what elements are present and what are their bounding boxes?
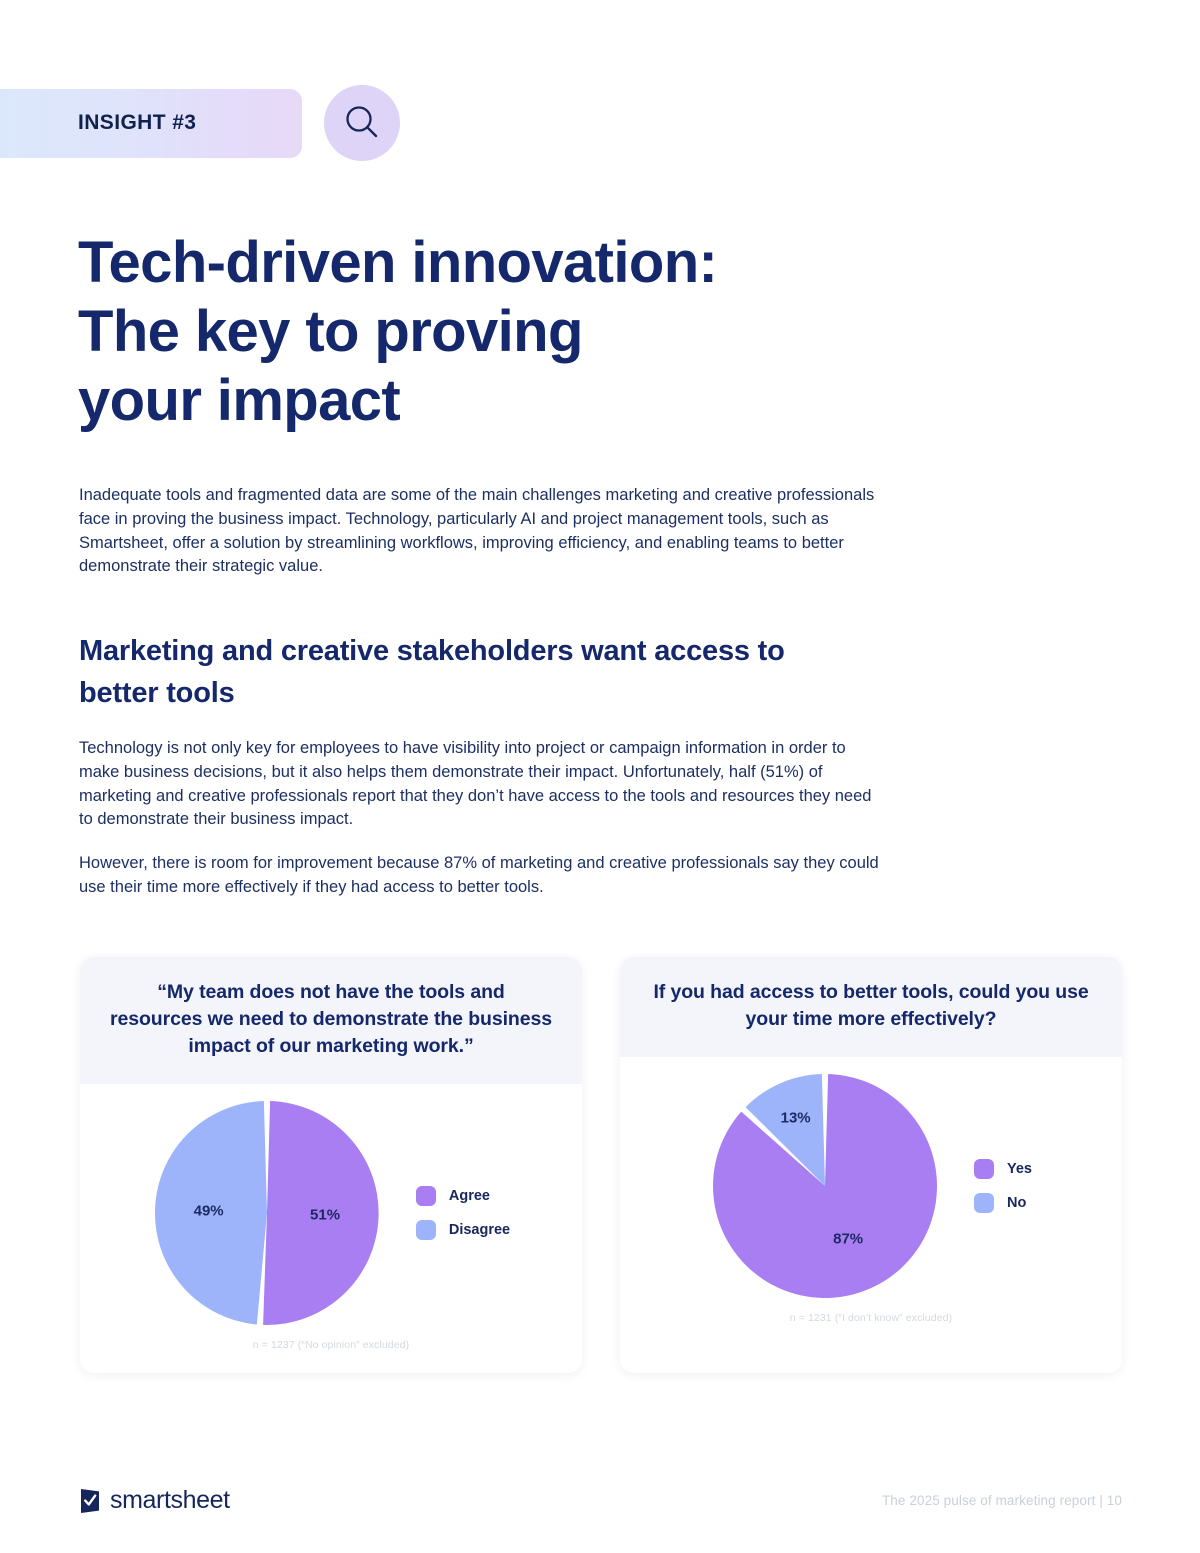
legend-label-agree: Agree [449,1188,490,1204]
chart-card-agree-disagree: “My team does not have the tools and res… [80,957,582,1373]
pie-chart-2: 87% 13% Yes No [620,1071,1122,1301]
chart-legend: Agree Disagree [416,1186,510,1240]
insight-badge-label: INSIGHT #3 [78,111,196,135]
chart-title: “My team does not have the tools and res… [110,979,552,1060]
pie-slice-label-yes: 87% [833,1231,863,1248]
legend-label-disagree: Disagree [449,1222,510,1238]
insight-badge: INSIGHT #3 [0,89,302,158]
legend-item-no[interactable]: No [974,1193,1032,1213]
chart-card-body: 87% 13% Yes No n = 1231 (“I [620,1057,1122,1346]
footer-meta: The 2025 pulse of marketing report | 10 [882,1493,1122,1508]
pie-slice-label-no: 13% [781,1110,811,1127]
legend-item-agree[interactable]: Agree [416,1186,510,1206]
legend-label-no: No [1007,1195,1026,1211]
pie-slice-label-disagree: 49% [194,1203,224,1220]
chart-card-body: 51% 49% Agree Disagree n = 1 [80,1084,582,1373]
smartsheet-logo: smartsheet [79,1486,230,1515]
chart-footnote: n = 1231 (“I don’t know” excluded) [620,1312,1122,1324]
pie-graphic: 87% 13% [710,1071,940,1301]
pie-slice-label-agree: 51% [310,1206,340,1223]
insight-badge-row: INSIGHT #3 [0,85,400,161]
chart-card-header: “My team does not have the tools and res… [80,957,582,1084]
legend-swatch-no [974,1193,994,1213]
smartsheet-check-icon [79,1488,101,1514]
search-icon [340,101,384,145]
page-footer: smartsheet The 2025 pulse of marketing r… [79,1486,1122,1515]
chart-legend: Yes No [974,1159,1032,1213]
chart-footnote: n = 1237 (“No opinion” excluded) [80,1339,582,1351]
chart-card-group: “My team does not have the tools and res… [80,957,1122,1373]
legend-swatch-agree [416,1186,436,1206]
legend-swatch-disagree [416,1220,436,1240]
section-subheading: Marketing and creative stakeholders want… [79,630,869,714]
body-paragraph-1: Technology is not only key for employees… [79,737,889,832]
legend-label-yes: Yes [1007,1161,1032,1177]
search-icon-circle [324,85,400,161]
page-title: Tech-driven innovation: The key to provi… [78,228,878,435]
pie-graphic: 51% 49% [152,1098,382,1328]
chart-card-yes-no: If you had access to better tools, could… [620,957,1122,1373]
pie-chart-1: 51% 49% Agree Disagree [80,1098,582,1328]
legend-item-disagree[interactable]: Disagree [416,1220,510,1240]
chart-title: If you had access to better tools, could… [650,979,1092,1033]
intro-paragraph: Inadequate tools and fragmented data are… [79,484,879,579]
legend-swatch-yes [974,1159,994,1179]
smartsheet-wordmark: smartsheet [110,1486,230,1515]
body-paragraph-2: However, there is room for improvement b… [79,852,889,900]
body-copy: Technology is not only key for employees… [79,737,889,900]
legend-item-yes[interactable]: Yes [974,1159,1032,1179]
chart-card-header: If you had access to better tools, could… [620,957,1122,1057]
report-page: INSIGHT #3 Tech-driven innovation: The k… [0,0,1200,1553]
